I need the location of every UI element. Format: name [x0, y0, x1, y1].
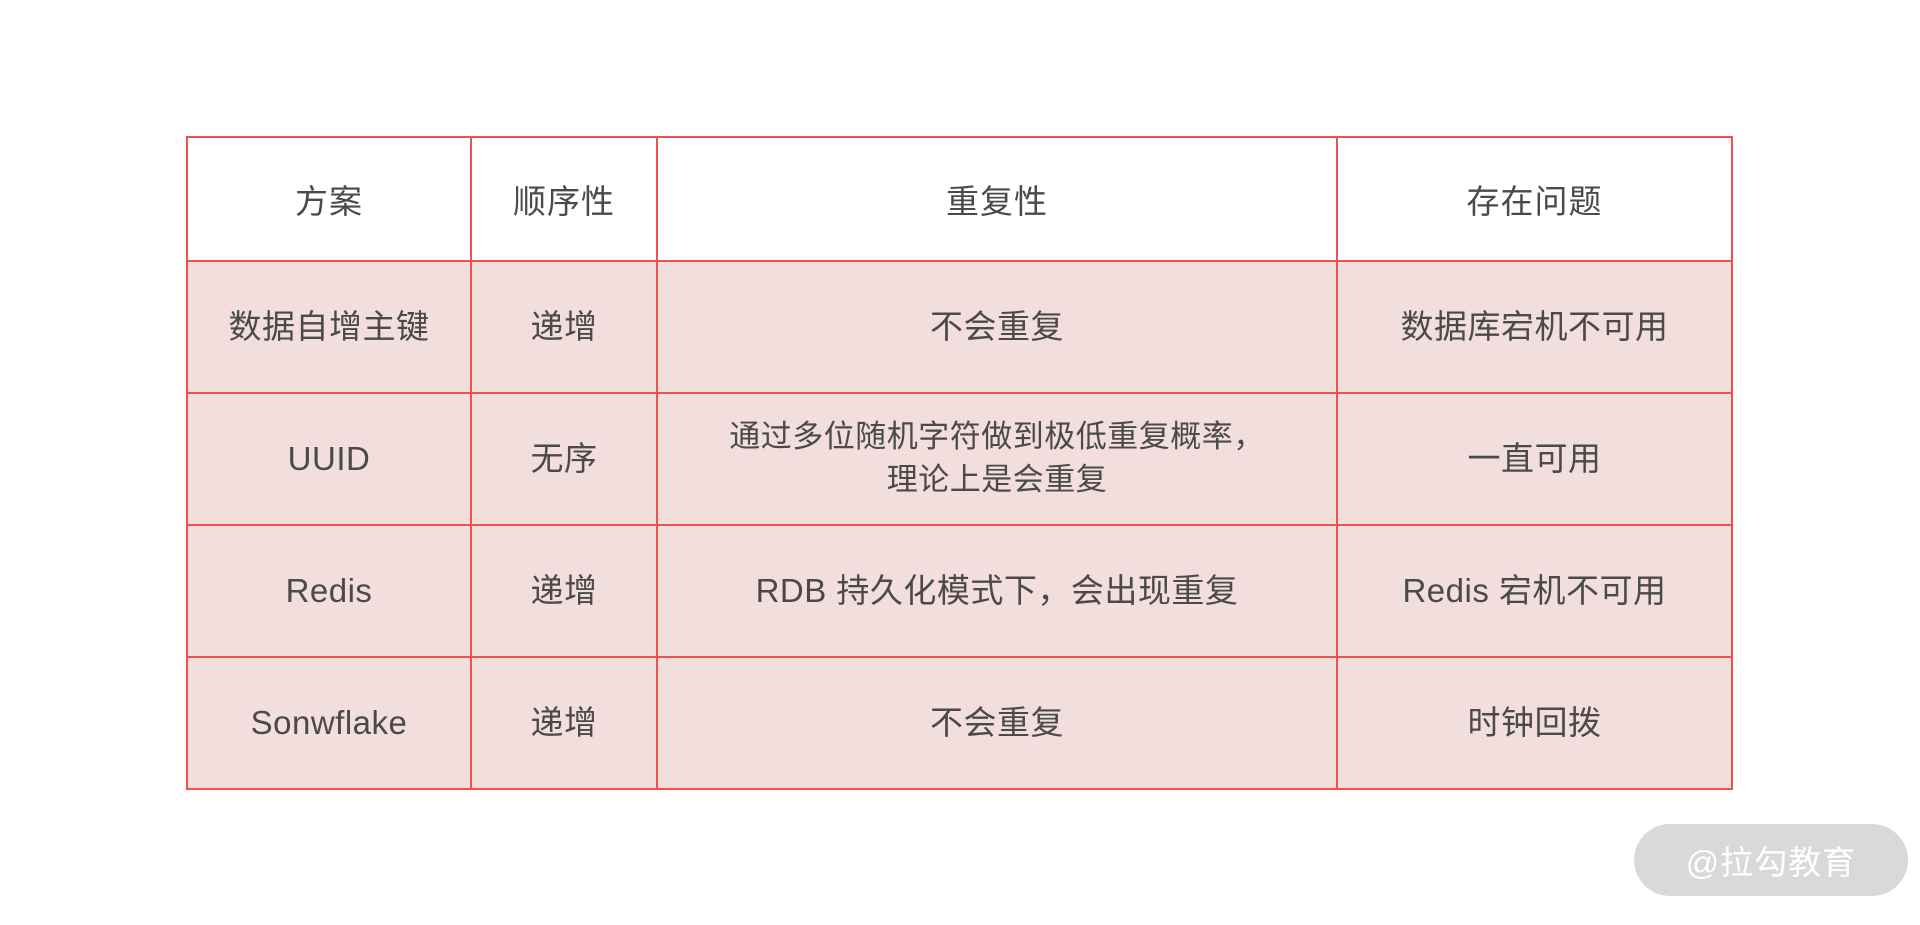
- cell-scheme: UUID: [187, 393, 471, 525]
- column-header-issue: 存在问题: [1337, 137, 1732, 261]
- cell-ordering: 无序: [471, 393, 657, 525]
- cell-issue: 数据库宕机不可用: [1337, 261, 1732, 393]
- cell-issue: 时钟回拨: [1337, 657, 1732, 789]
- column-header-scheme: 方案: [187, 137, 471, 261]
- table-row: Sonwflake 递增 不会重复 时钟回拨: [187, 657, 1732, 789]
- cell-scheme: Redis: [187, 525, 471, 657]
- table-row: Redis 递增 RDB 持久化模式下，会出现重复 Redis 宕机不可用: [187, 525, 1732, 657]
- table-body: 数据自增主键 递增 不会重复 数据库宕机不可用 UUID 无序 通过多位随机字符…: [187, 261, 1732, 789]
- column-header-duplication: 重复性: [657, 137, 1337, 261]
- cell-issue: Redis 宕机不可用: [1337, 525, 1732, 657]
- page-canvas: 方案 顺序性 重复性 存在问题 数据自增主键 递增 不会重复 数据库宕机不可用 …: [0, 0, 1920, 925]
- comparison-table: 方案 顺序性 重复性 存在问题 数据自增主键 递增 不会重复 数据库宕机不可用 …: [186, 136, 1733, 790]
- table-row: UUID 无序 通过多位随机字符做到极低重复概率， 理论上是会重复 一直可用: [187, 393, 1732, 525]
- table-header: 方案 顺序性 重复性 存在问题: [187, 137, 1732, 261]
- cell-issue: 一直可用: [1337, 393, 1732, 525]
- cell-duplication: 不会重复: [657, 657, 1337, 789]
- cell-duplication: RDB 持久化模式下，会出现重复: [657, 525, 1337, 657]
- cell-scheme: Sonwflake: [187, 657, 471, 789]
- table-row: 数据自增主键 递增 不会重复 数据库宕机不可用: [187, 261, 1732, 393]
- table-header-row: 方案 顺序性 重复性 存在问题: [187, 137, 1732, 261]
- watermark-label: @拉勾教育: [1686, 836, 1857, 884]
- cell-ordering: 递增: [471, 525, 657, 657]
- cell-duplication: 不会重复: [657, 261, 1337, 393]
- cell-ordering: 递增: [471, 657, 657, 789]
- cell-duplication: 通过多位随机字符做到极低重复概率， 理论上是会重复: [657, 393, 1337, 525]
- cell-duplication-line-2: 理论上是会重复: [676, 459, 1318, 502]
- cell-duplication-line-1: 通过多位随机字符做到极低重复概率，: [676, 416, 1318, 459]
- cell-ordering: 递增: [471, 261, 657, 393]
- watermark-badge: @拉勾教育: [1634, 824, 1908, 896]
- column-header-ordering: 顺序性: [471, 137, 657, 261]
- cell-scheme: 数据自增主键: [187, 261, 471, 393]
